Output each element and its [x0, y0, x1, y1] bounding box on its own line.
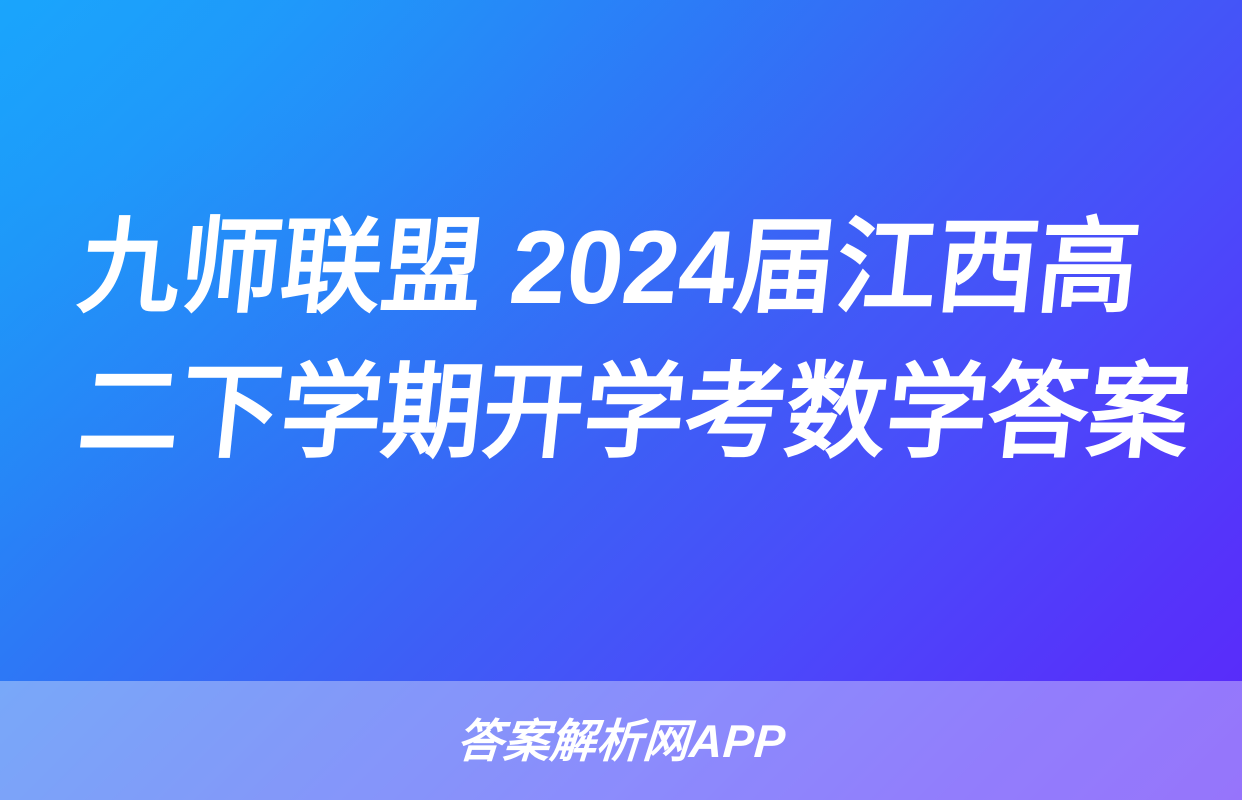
headline-line-2: 二下学期开学考数学答案: [0, 341, 1212, 486]
headline-line-1: 九师联盟 2024届江西高: [0, 196, 1212, 341]
footer-brand-text: 答案解析网APP: [455, 716, 787, 766]
poster-headline: 九师联盟 2024届江西高 二下学期开学考数学答案: [0, 0, 1242, 681]
footer-brand-band: 答案解析网APP: [0, 681, 1242, 800]
poster-canvas: 九师联盟 2024届江西高 二下学期开学考数学答案 答案解析网APP: [0, 0, 1242, 800]
